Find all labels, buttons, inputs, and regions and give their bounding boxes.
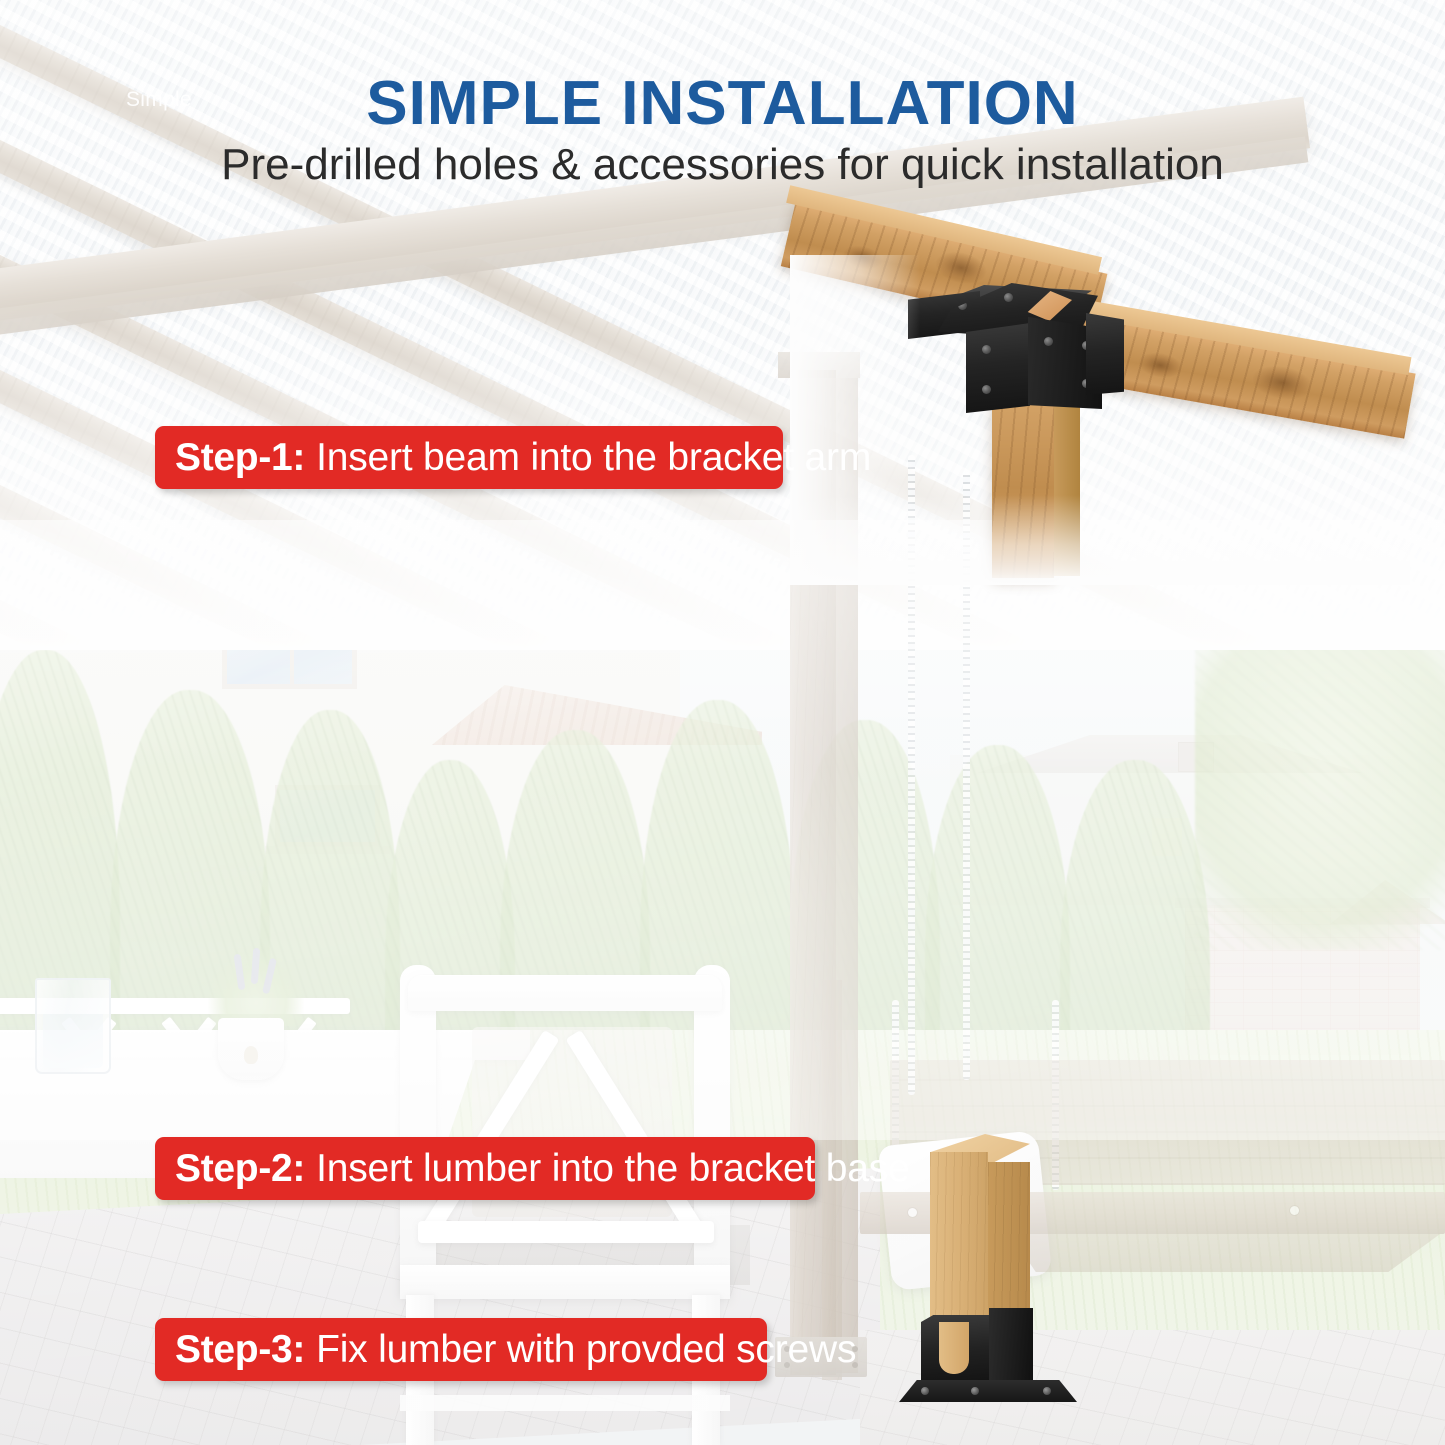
step-3-label: Step-3: (175, 1328, 305, 1372)
step-3-text: Fix lumber with provded screws (316, 1328, 856, 1372)
base-bracket-notch (939, 1322, 969, 1374)
step-banner-1: Step-1: Insert beam into the bracket arm (155, 426, 783, 489)
bracket-arm-right (1086, 313, 1124, 395)
backyard-photo-scene (0, 0, 1445, 1445)
chair-mid-rail (418, 1221, 714, 1243)
pergola-bracket-assembly (790, 255, 1410, 585)
lavender-plant (208, 948, 304, 1026)
chair-stretcher (400, 1395, 730, 1411)
chair-stile-right (694, 965, 730, 1295)
base-bracket-side (989, 1308, 1033, 1388)
step-1-label: Step-1: (175, 436, 305, 480)
bracket-collar-front (966, 323, 1030, 413)
step-2-text: Insert lumber into the bracket base (316, 1147, 909, 1191)
step-banner-3: Step-3: Fix lumber with provded screws (155, 1318, 767, 1381)
chair-seat (400, 1265, 730, 1299)
post-base-bracket-assembly (905, 1130, 1075, 1420)
page-title: SIMPLE INSTALLATION (0, 68, 1445, 139)
flower-pot (218, 1018, 284, 1080)
chair-stile-left (400, 965, 436, 1295)
step-1-text: Insert beam into the bracket arm (316, 436, 871, 480)
base-mounting-plate (899, 1380, 1077, 1402)
chair-crest-rail (408, 975, 722, 1011)
step-banner-2: Step-2: Insert lumber into the bracket b… (155, 1137, 815, 1200)
beam-fade-bottom (790, 495, 1410, 585)
deciduous-tree (1195, 620, 1445, 950)
product-infographic: Simple SIMPLE INSTALLATION Pre-drilled h… (0, 0, 1445, 1445)
drinking-glass (35, 978, 111, 1074)
page-subtitle: Pre-drilled holes & accessories for quic… (0, 140, 1445, 190)
step-2-label: Step-2: (175, 1147, 305, 1191)
